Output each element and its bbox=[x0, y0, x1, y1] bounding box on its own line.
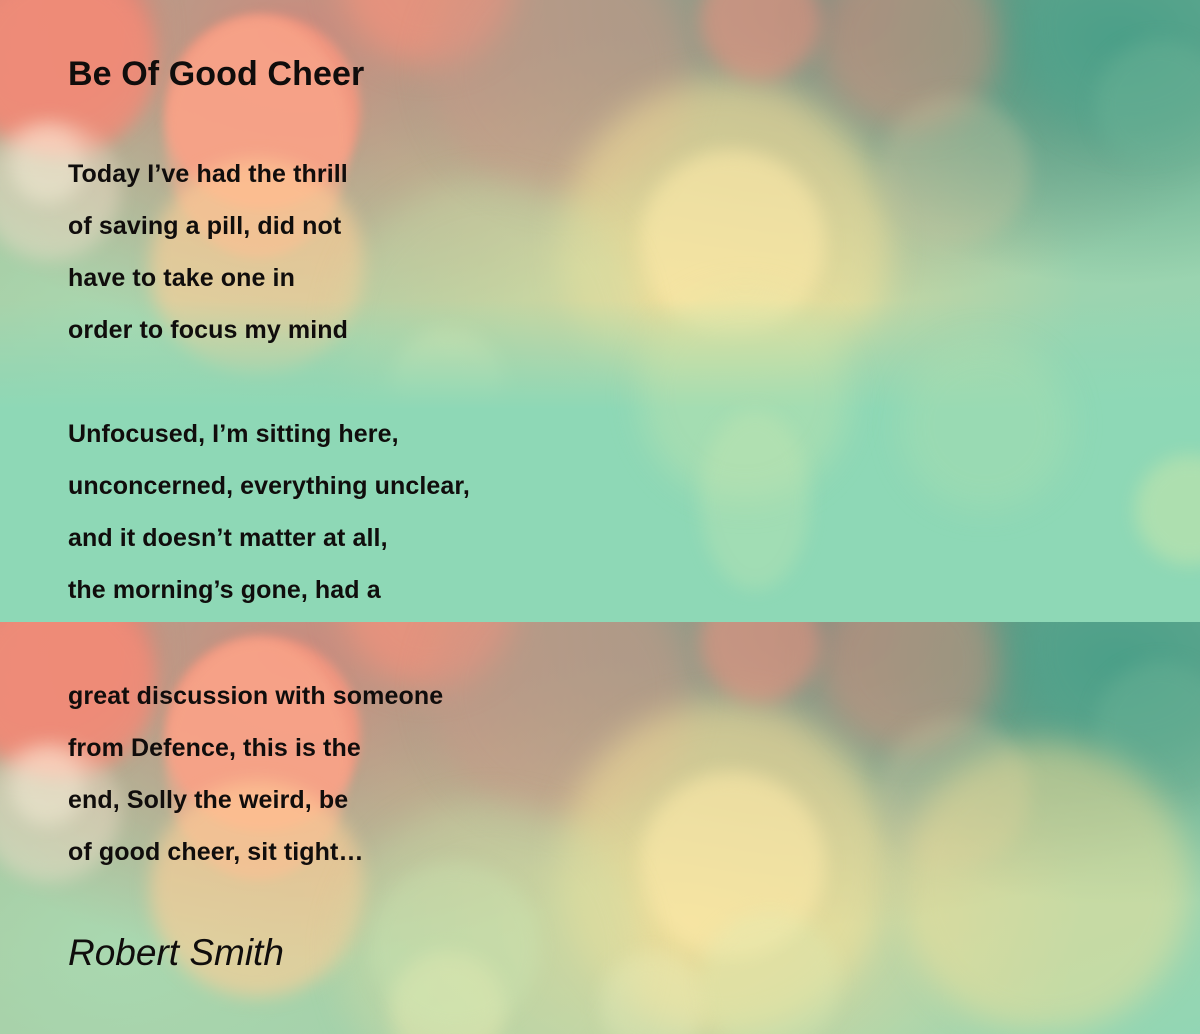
poem-line: unconcerned, everything unclear, bbox=[68, 472, 470, 501]
poem-line: order to focus my mind bbox=[68, 316, 348, 345]
author-signature: Robert Smith bbox=[68, 932, 284, 974]
poem-line: of saving a pill, did not bbox=[68, 212, 341, 241]
poem-line: the morning’s gone, had a bbox=[68, 576, 381, 605]
poem-line: great discussion with someone bbox=[68, 682, 443, 711]
poem-text-layer: Be Of Good Cheer Today I’ve had the thri… bbox=[0, 0, 1200, 1034]
page-title: Be Of Good Cheer bbox=[68, 55, 364, 94]
poem-line: and it doesn’t matter at all, bbox=[68, 524, 388, 553]
poem-line: have to take one in bbox=[68, 264, 295, 293]
poem-line: end, Solly the weird, be bbox=[68, 786, 348, 815]
poem-line: Today I’ve had the thrill bbox=[68, 160, 348, 189]
poem-line: of good cheer, sit tight… bbox=[68, 838, 364, 867]
poem-line: Unfocused, I’m sitting here, bbox=[68, 420, 399, 449]
poem-card: Be Of Good Cheer Today I’ve had the thri… bbox=[0, 0, 1200, 1034]
poem-line: from Defence, this is the bbox=[68, 734, 361, 763]
